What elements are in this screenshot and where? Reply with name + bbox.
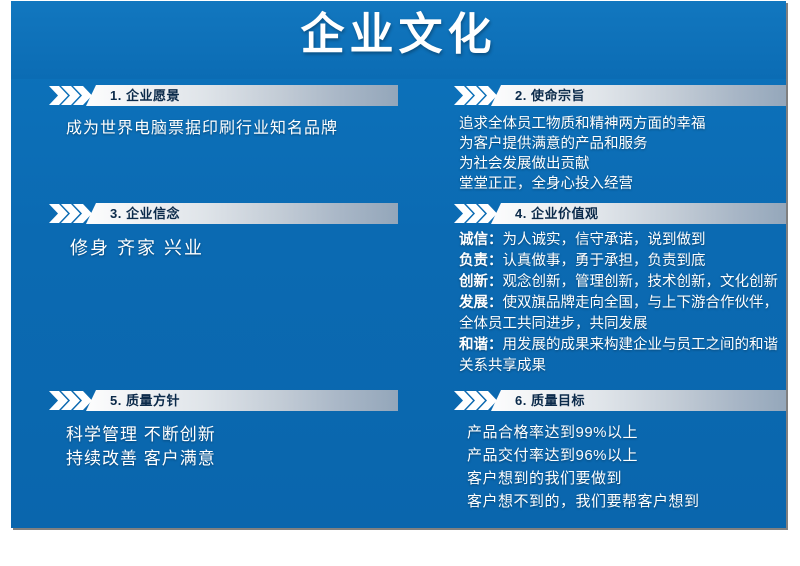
values-item-integrity: 诚信：为人诚实，信守承诺，说到做到	[459, 230, 786, 251]
section-values-header: 4. 企业价值观	[453, 203, 786, 224]
section-belief-heading: 3. 企业信念	[110, 203, 180, 224]
triple-chevron-right-icon	[48, 390, 94, 411]
mission-line-1: 追求全体员工物质和精神两方面的幸福	[459, 114, 786, 134]
triple-chevron-right-icon	[48, 203, 94, 224]
section-vision: 1. 企业愿景 成为世界电脑票据印刷行业知名品牌	[48, 85, 398, 139]
section-mission-heading: 2. 使命宗旨	[515, 85, 585, 106]
section-belief-header: 3. 企业信念	[48, 203, 398, 224]
quality-goal-line-4: 客户想不到的，我们要帮客户想到	[467, 490, 786, 513]
section-values: 4. 企业价值观 诚信：为人诚实，信守承诺，说到做到 负责：认真做事，勇于承担，…	[453, 203, 786, 377]
section-quality-policy-body: 科学管理 不断创新 持续改善 客户满意	[48, 411, 398, 471]
section-vision-heading: 1. 企业愿景	[110, 85, 180, 106]
section-quality-goal-header: 6. 质量目标	[453, 390, 786, 411]
values-keyword-innovation: 创新：	[459, 274, 503, 290]
section-mission-header: 2. 使命宗旨	[453, 85, 786, 106]
values-text-harmony: 用发展的成果来构建企业与员工之间的和谐关系共享成果	[459, 337, 778, 374]
section-quality-policy-heading: 5. 质量方针	[110, 390, 180, 411]
section-mission-body: 追求全体员工物质和精神两方面的幸福 为客户提供满意的产品和服务 为社会发展做出贡…	[453, 106, 786, 194]
values-item-responsibility: 负责：认真做事，勇于承担，负责到底	[459, 251, 786, 272]
section-quality-goal-heading: 6. 质量目标	[515, 390, 585, 411]
quality-policy-line-1: 科学管理 不断创新	[66, 423, 398, 447]
section-quality-policy-title-bar: 5. 质量方针	[86, 390, 398, 411]
mission-line-4: 堂堂正正，全身心投入经营	[459, 174, 786, 194]
section-belief-body: 修身 齐家 兴业	[48, 224, 398, 259]
values-keyword-integrity: 诚信：	[459, 232, 503, 248]
section-mission: 2. 使命宗旨 追求全体员工物质和精神两方面的幸福 为客户提供满意的产品和服务 …	[453, 85, 786, 194]
section-quality-goal-body: 产品合格率达到99%以上 产品交付率达到96%以上 客户想到的我们要做到 客户想…	[453, 411, 786, 513]
values-text-innovation: 观念创新，管理创新，技术创新，文化创新	[503, 274, 779, 290]
values-item-innovation: 创新：观念创新，管理创新，技术创新，文化创新	[459, 272, 786, 293]
section-quality-goal: 6. 质量目标 产品合格率达到99%以上 产品交付率达到96%以上 客户想到的我…	[453, 390, 786, 513]
poster-canvas: 企业文化 1. 企业愿景 成为世界电脑票据印刷行业知名品牌	[0, 0, 800, 566]
section-belief-title-bar: 3. 企业信念	[86, 203, 398, 224]
section-quality-policy: 5. 质量方针 科学管理 不断创新 持续改善 客户满意	[48, 390, 398, 471]
triple-chevron-right-icon	[453, 390, 499, 411]
culture-poster-panel: 企业文化 1. 企业愿景 成为世界电脑票据印刷行业知名品牌	[11, 1, 786, 528]
triple-chevron-right-icon	[48, 85, 94, 106]
triple-chevron-right-icon	[453, 85, 499, 106]
section-vision-body: 成为世界电脑票据印刷行业知名品牌	[48, 106, 398, 139]
section-vision-title-bar: 1. 企业愿景	[86, 85, 398, 106]
values-keyword-development: 发展：	[459, 295, 503, 311]
quality-goal-line-3: 客户想到的我们要做到	[467, 467, 786, 490]
section-values-heading: 4. 企业价值观	[515, 203, 598, 224]
vision-line-1: 成为世界电脑票据印刷行业知名品牌	[66, 118, 398, 139]
page-title: 企业文化	[11, 7, 786, 63]
mission-line-2: 为客户提供满意的产品和服务	[459, 134, 786, 154]
section-quality-policy-header: 5. 质量方针	[48, 390, 398, 411]
values-item-development: 发展：使双旗品牌走向全国，与上下游合作伙伴，全体员工共同进步，共同发展	[459, 293, 786, 335]
belief-line-1: 修身 齐家 兴业	[70, 238, 398, 259]
section-values-title-bar: 4. 企业价值观	[491, 203, 786, 224]
section-values-body: 诚信：为人诚实，信守承诺，说到做到 负责：认真做事，勇于承担，负责到底 创新：观…	[453, 224, 786, 377]
section-belief: 3. 企业信念 修身 齐家 兴业	[48, 203, 398, 259]
quality-goal-line-2: 产品交付率达到96%以上	[467, 444, 786, 467]
values-item-harmony: 和谐：用发展的成果来构建企业与员工之间的和谐关系共享成果	[459, 335, 786, 377]
section-quality-goal-title-bar: 6. 质量目标	[491, 390, 786, 411]
values-text-integrity: 为人诚实，信守承诺，说到做到	[503, 232, 706, 248]
triple-chevron-right-icon	[453, 203, 499, 224]
mission-line-3: 为社会发展做出贡献	[459, 154, 786, 174]
section-vision-header: 1. 企业愿景	[48, 85, 398, 106]
values-text-responsibility: 认真做事，勇于承担，负责到底	[503, 253, 706, 269]
values-text-development: 使双旗品牌走向全国，与上下游合作伙伴，全体员工共同进步，共同发展	[459, 295, 778, 332]
quality-policy-line-2: 持续改善 客户满意	[66, 447, 398, 471]
values-keyword-responsibility: 负责：	[459, 253, 503, 269]
section-mission-title-bar: 2. 使命宗旨	[491, 85, 786, 106]
quality-goal-line-1: 产品合格率达到99%以上	[467, 421, 786, 444]
values-keyword-harmony: 和谐：	[459, 337, 503, 353]
